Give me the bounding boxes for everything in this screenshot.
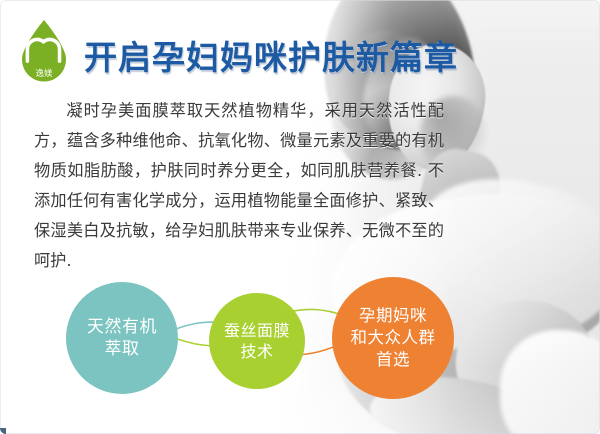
feature-bubble-first-choice-for-moms[interactable]: 孕期妈咪 和大众人群 首选 <box>332 277 454 399</box>
bubble-1-line-1: 天然有机 <box>87 316 157 338</box>
bubble-2-line-2: 技术 <box>240 341 273 362</box>
banner-title: 开启孕妇妈咪护肤新篇章 <box>84 31 458 79</box>
brand-logo[interactable]: 逸媄 <box>16 18 72 84</box>
banner-header: 逸媄 开启孕妇妈咪护肤新篇章 <box>0 10 600 82</box>
droplet-leaf-icon: 逸媄 <box>16 18 72 84</box>
bubble-3-line-1: 孕期妈咪 <box>359 305 427 327</box>
logo-subtext: 逸媄 <box>35 68 53 79</box>
bubble-1-line-2: 萃取 <box>105 338 140 360</box>
feature-bubble-natural-organic-extract[interactable]: 天然有机 萃取 <box>66 282 178 394</box>
body-paragraph: 凝时孕美面膜萃取天然植物精华，采用天然活性配方，蕴含多种维他命、抗氧化物、微量元… <box>34 96 444 276</box>
feature-bubble-silk-mask-technology[interactable]: 蚕丝面膜 技术 <box>209 293 305 389</box>
product-promo-banner: 逸媄 开启孕妇妈咪护肤新篇章 凝时孕美面膜萃取天然植物精华，采用天然活性配方，蕴… <box>0 0 600 434</box>
bubble-2-line-1: 蚕丝面膜 <box>224 320 290 341</box>
corner-marker <box>0 428 6 434</box>
bubble-3-line-3: 首选 <box>376 349 410 371</box>
bubble-3-line-2: 和大众人群 <box>351 327 436 349</box>
